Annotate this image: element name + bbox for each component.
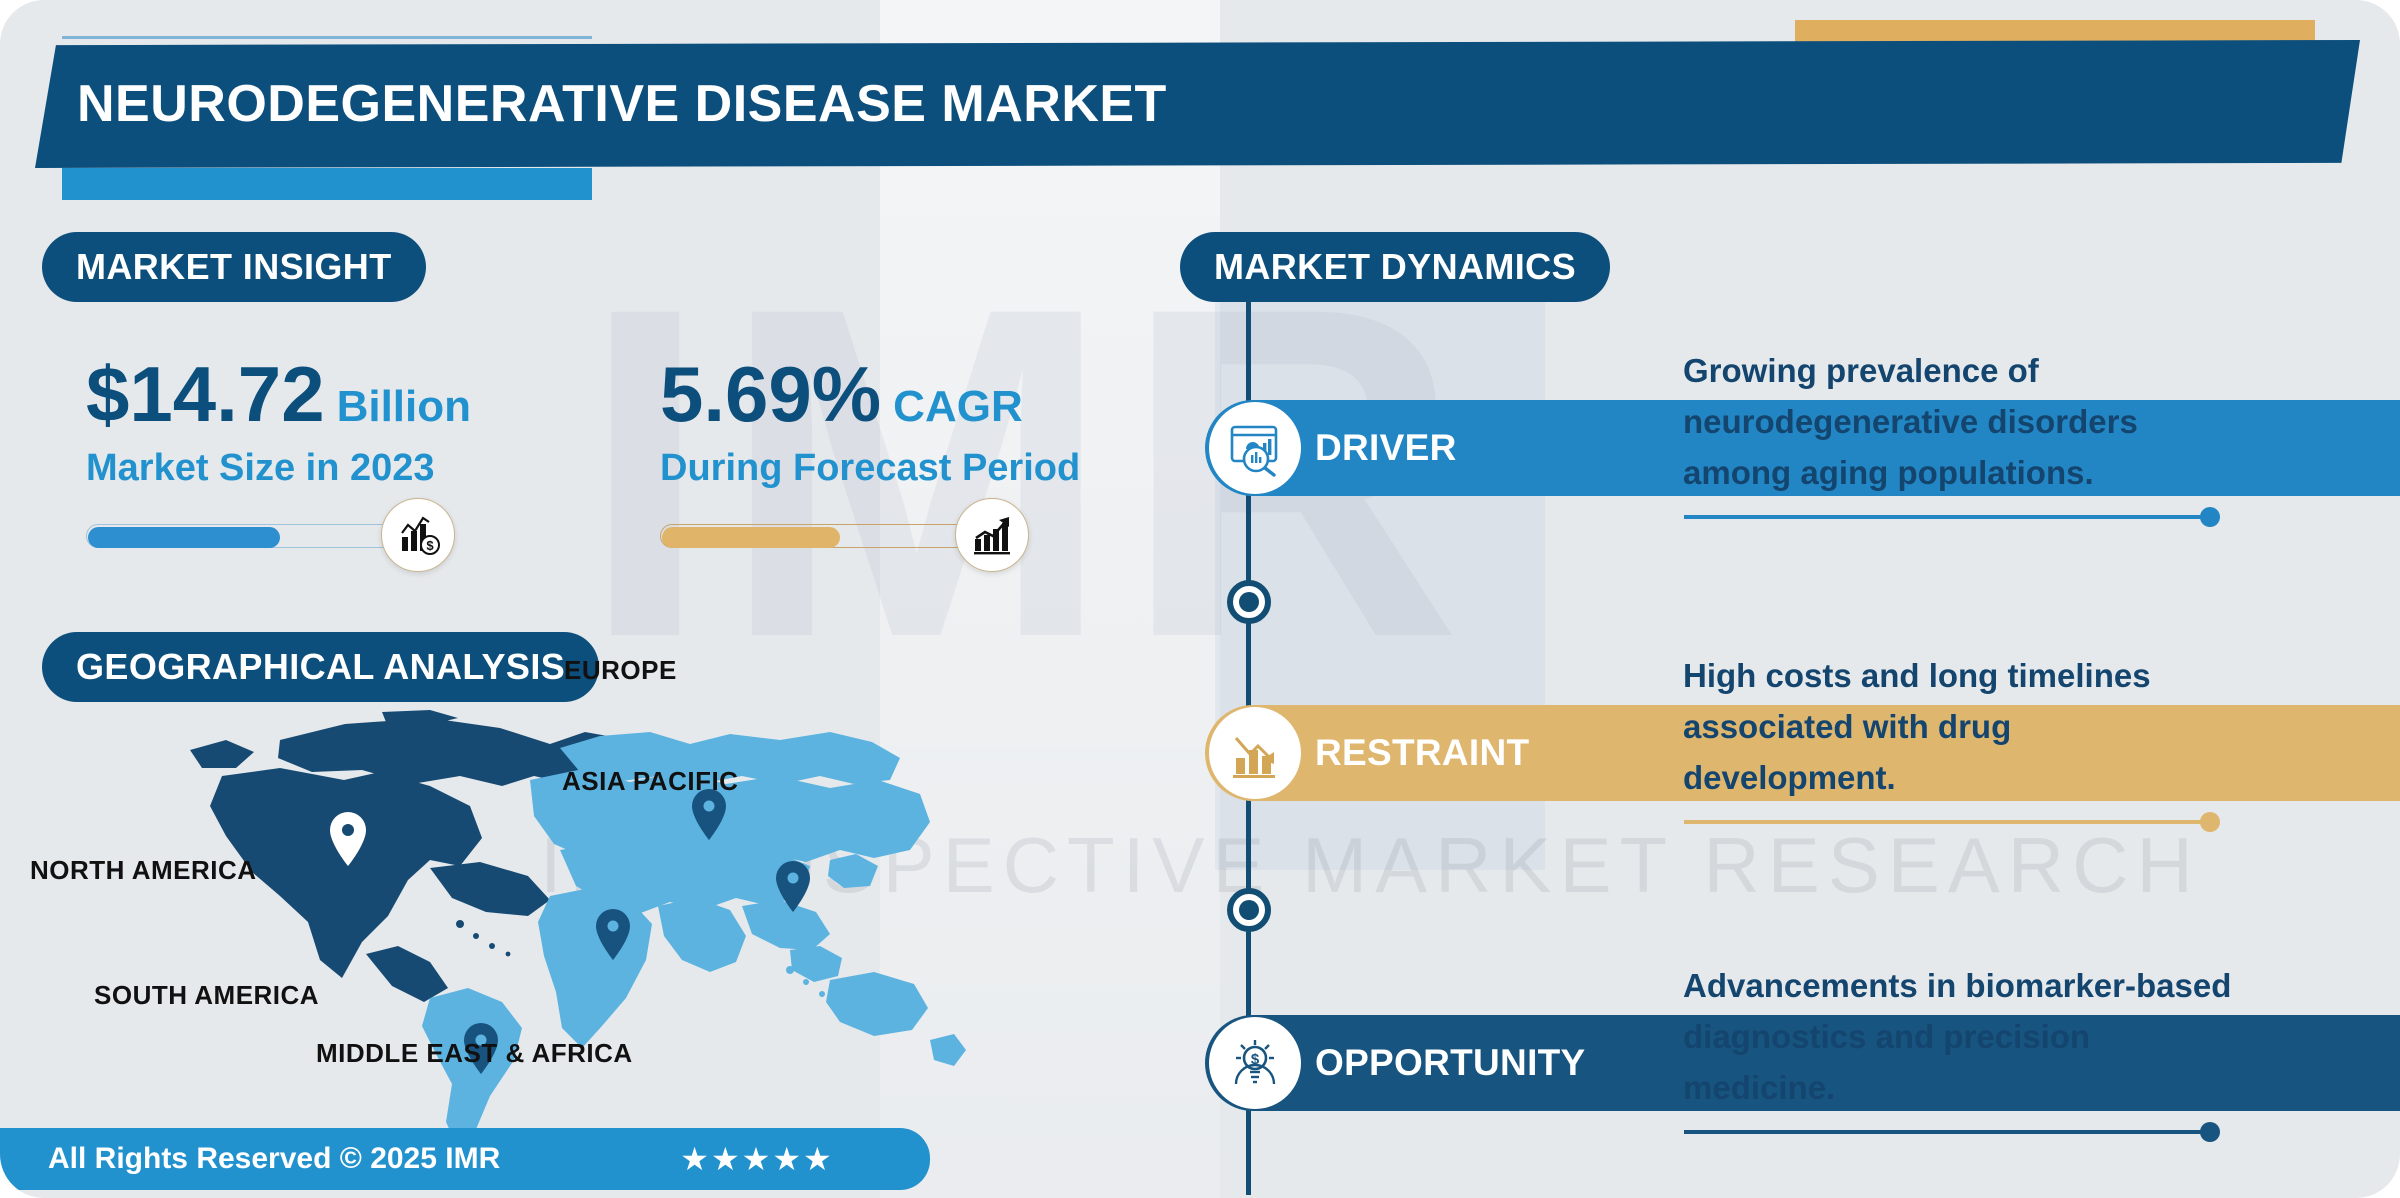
opportunity-underline bbox=[1684, 1130, 2208, 1134]
progress-bar-market-size: $ bbox=[86, 520, 416, 552]
lightbulb-dollar-icon: $ bbox=[1209, 1017, 1301, 1109]
map-label-asia-pacific: ASIA PACIFIC bbox=[562, 766, 738, 797]
stat-unit: Billion bbox=[337, 382, 471, 432]
header-bar: NEURODEGENERATIVE DISEASE MARKET bbox=[35, 40, 2360, 168]
page-title: NEURODEGENERATIVE DISEASE MARKET bbox=[77, 74, 1167, 134]
stat-cagr: 5.69%CAGR During Forecast Period bbox=[660, 355, 1080, 552]
geographical-analysis-pill: GEOGRAPHICAL ANALYSIS bbox=[42, 632, 599, 702]
world-map-svg bbox=[130, 710, 970, 1150]
restraint-text: High costs and long timelines associated… bbox=[1683, 650, 2213, 803]
rating-stars: ★★★★★ bbox=[680, 1140, 833, 1178]
growth-chart-arrow-icon bbox=[955, 498, 1029, 572]
declining-bar-chart-icon bbox=[1209, 707, 1301, 799]
stat-value: $14.72 bbox=[86, 355, 325, 433]
bar-chart-dollar-icon: $ bbox=[381, 498, 455, 572]
restraint-underline bbox=[1684, 820, 2208, 824]
driver-label: DRIVER bbox=[1315, 400, 1457, 496]
restraint-label: RESTRAINT bbox=[1315, 705, 1529, 801]
stat-caption: Market Size in 2023 bbox=[86, 447, 471, 490]
map-label-south-america: SOUTH AMERICA bbox=[94, 980, 319, 1011]
market-insight-pill: MARKET INSIGHT bbox=[42, 232, 426, 302]
stat-unit: CAGR bbox=[893, 382, 1023, 432]
dynamics-item-driver: DRIVER Growing prevalence of neurodegene… bbox=[1205, 400, 2365, 600]
progress-fill bbox=[88, 527, 280, 548]
opportunity-label: OPPORTUNITY bbox=[1315, 1015, 1586, 1111]
copyright-text: All Rights Reserved © 2025 IMR bbox=[48, 1142, 500, 1176]
header-blue-accent bbox=[62, 168, 592, 200]
dynamics-item-opportunity: $ OPPORTUNITY Advancements in biomarker-… bbox=[1205, 1015, 2365, 1198]
stat-caption: During Forecast Period bbox=[660, 447, 1080, 490]
dynamics-item-restraint: RESTRAINT High costs and long timelines … bbox=[1205, 705, 2365, 905]
stat-market-size: $14.72Billion Market Size in 2023 $ bbox=[86, 355, 471, 552]
svg-text:$: $ bbox=[426, 538, 434, 553]
header-thin-line bbox=[62, 36, 592, 39]
world-map: NORTH AMERICA SOUTH AMERICA EUROPE ASIA … bbox=[130, 710, 970, 1150]
map-label-middle-east-africa: MIDDLE EAST & AFRICA bbox=[316, 1038, 633, 1069]
chart-magnifier-icon bbox=[1209, 402, 1301, 494]
opportunity-end-dot bbox=[2200, 1122, 2220, 1142]
driver-text: Growing prevalence of neurodegenerative … bbox=[1683, 345, 2213, 498]
infographic-root: IMR INTROSPECTIVE MARKET RESEARCH NEUROD… bbox=[0, 0, 2400, 1198]
market-dynamics-pill: MARKET DYNAMICS bbox=[1180, 232, 1610, 302]
progress-fill bbox=[662, 527, 840, 548]
map-label-europe: EUROPE bbox=[564, 655, 677, 686]
progress-bar-cagr bbox=[660, 520, 990, 552]
stat-value: 5.69% bbox=[660, 355, 881, 433]
driver-end-dot bbox=[2200, 507, 2220, 527]
map-label-north-america: NORTH AMERICA bbox=[30, 855, 257, 886]
opportunity-text: Advancements in biomarker-based diagnost… bbox=[1683, 960, 2243, 1113]
driver-underline bbox=[1684, 515, 2208, 519]
restraint-end-dot bbox=[2200, 812, 2220, 832]
footer-bar: All Rights Reserved © 2025 IMR ★★★★★ bbox=[0, 1128, 930, 1190]
